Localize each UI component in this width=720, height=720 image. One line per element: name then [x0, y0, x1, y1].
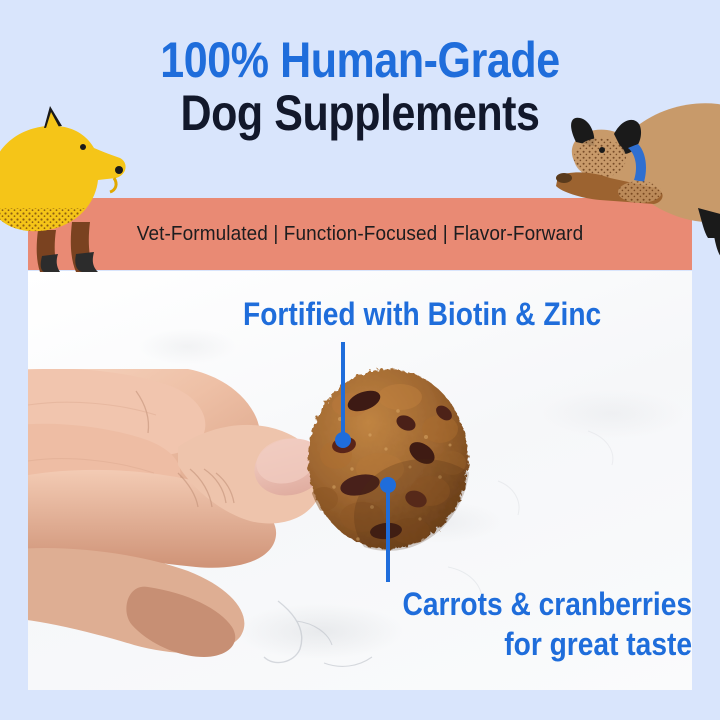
page-title: 100% Human-Grade Dog Supplements — [0, 36, 720, 138]
callout-carrots-line-1: Carrots & cranberries — [402, 586, 692, 622]
callout-biotin-zinc-text: Fortified with Biotin & Zinc — [243, 296, 601, 332]
dog-nose — [115, 166, 123, 174]
pointer-line-carrots — [375, 474, 405, 589]
tagline-text: Vet-Formulated | Function-Focused | Flav… — [137, 223, 584, 246]
callout-carrots-cranberries: Carrots & cranberries for great taste — [402, 588, 692, 660]
pointer-line-biotin — [330, 340, 360, 455]
dog-eye — [599, 147, 605, 153]
promo-poster: 100% Human-Grade Dog Supplements — [0, 0, 720, 720]
pointer-dot-biotin — [335, 432, 351, 448]
callout-biotin-zinc: Fortified with Biotin & Zinc — [243, 298, 601, 330]
dog-nose — [556, 173, 572, 183]
headline-line-1: 100% Human-Grade — [50, 36, 669, 85]
dog-eye — [80, 144, 86, 150]
callout-carrots-line-2: for great taste — [402, 628, 692, 660]
headline-line-2: Dog Supplements — [50, 89, 669, 138]
